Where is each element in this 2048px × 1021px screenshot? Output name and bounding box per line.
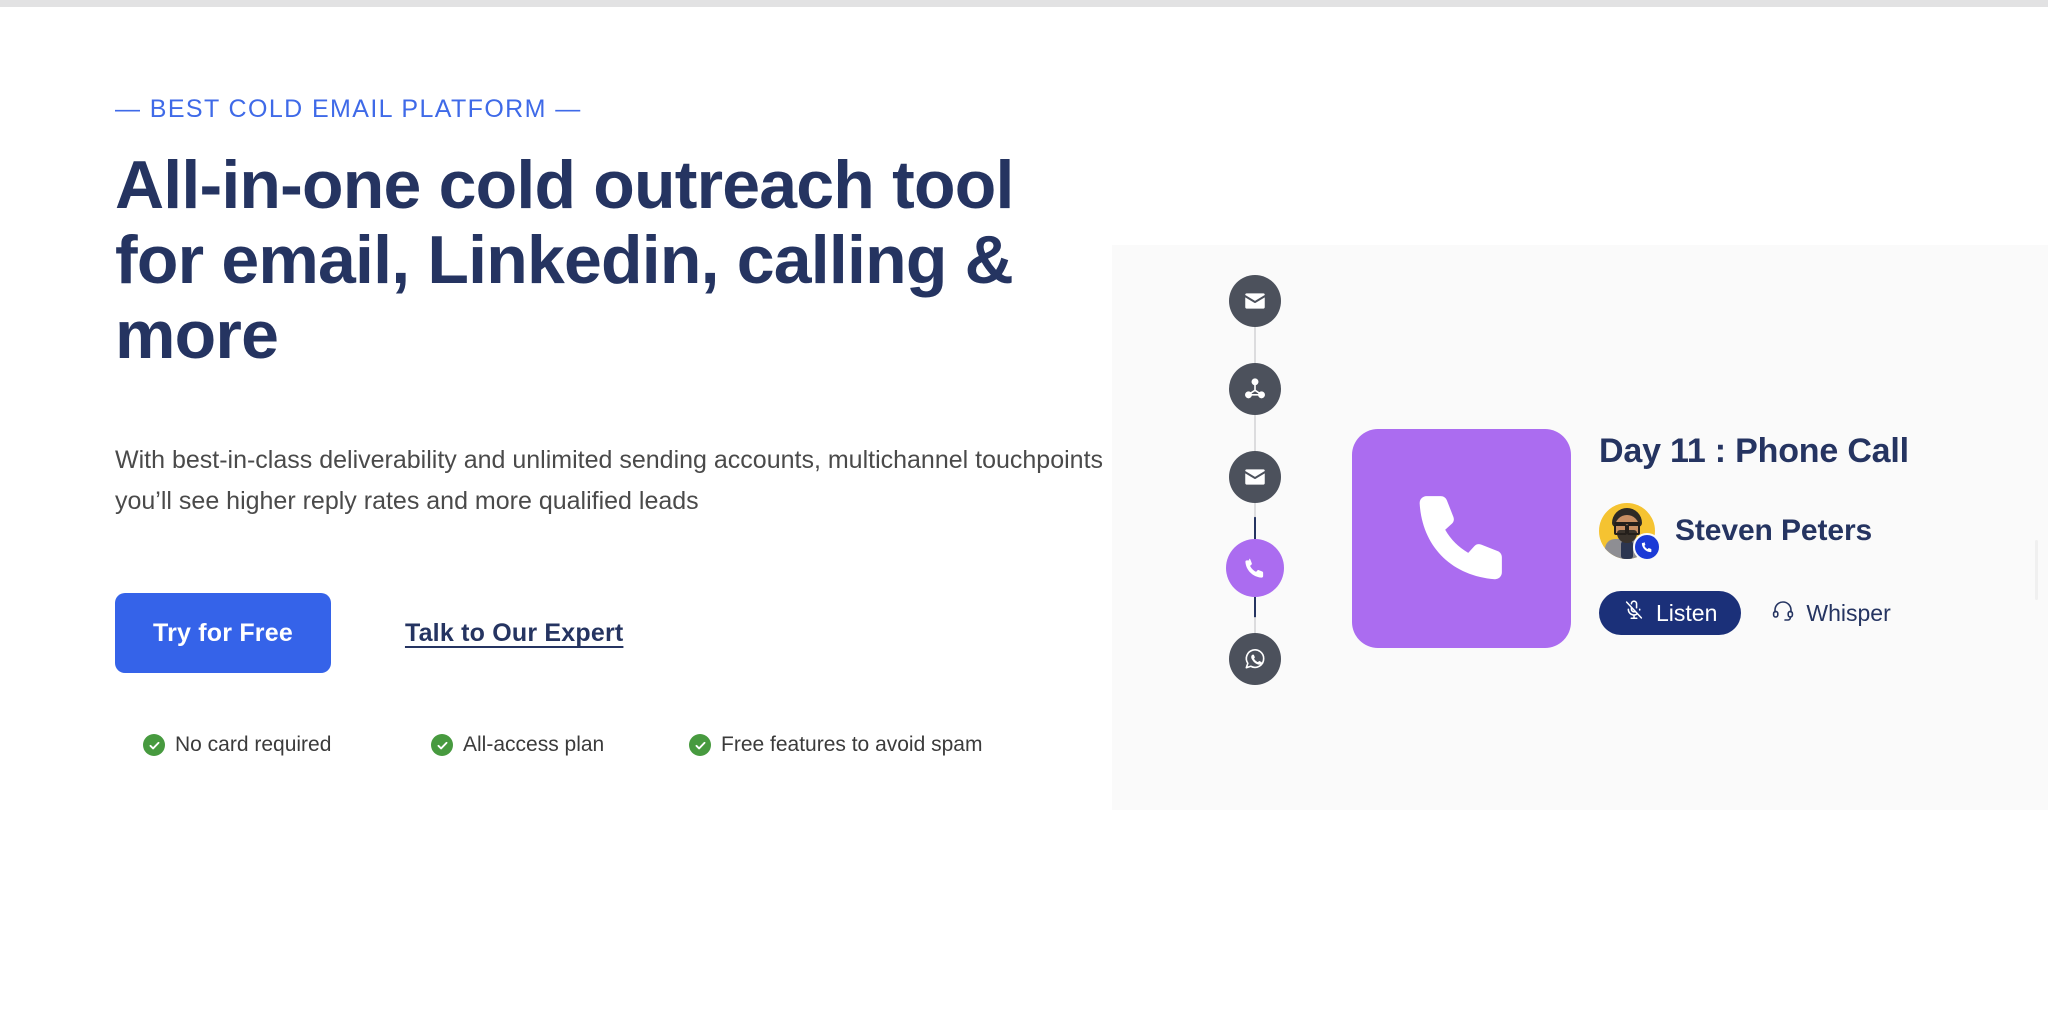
email-icon xyxy=(1242,464,1268,490)
call-info: Day 11 : Phone Call xyxy=(1599,429,1909,635)
call-title: Day 11 : Phone Call xyxy=(1599,432,1909,471)
rail-node-share[interactable] xyxy=(1229,363,1281,415)
rail-node-email-1[interactable] xyxy=(1229,275,1281,327)
hero-subtext: With best-in-class deliverability and un… xyxy=(115,440,1115,521)
feature-item: No card required xyxy=(143,733,431,757)
check-circle-icon xyxy=(431,734,453,756)
page-title: All-in-one cold outreach tool for email,… xyxy=(115,148,1075,372)
avatar-wrap xyxy=(1599,503,1655,559)
share-network-icon xyxy=(1242,376,1268,402)
try-for-free-button[interactable]: Try for Free xyxy=(115,593,331,673)
call-actions: Listen Whisper xyxy=(1599,591,1909,635)
feature-label: All-access plan xyxy=(463,733,604,757)
mic-muted-icon xyxy=(1623,599,1645,627)
listen-label: Listen xyxy=(1656,600,1717,627)
contact-row: Steven Peters xyxy=(1599,503,1909,559)
rail-node-whatsapp[interactable] xyxy=(1229,633,1281,685)
check-circle-icon xyxy=(689,734,711,756)
rail-connector-2 xyxy=(1254,415,1256,451)
whisper-label: Whisper xyxy=(1806,600,1890,627)
talk-to-expert-link[interactable]: Talk to Our Expert xyxy=(405,619,623,648)
whatsapp-icon xyxy=(1242,646,1268,672)
hero-eyebrow: — BEST COLD EMAIL PLATFORM — xyxy=(115,95,1115,124)
feature-label: Free features to avoid spam xyxy=(721,733,982,757)
feature-item: Free features to avoid spam xyxy=(689,733,982,757)
headset-icon xyxy=(1771,598,1795,628)
check-circle-icon xyxy=(143,734,165,756)
top-strip xyxy=(0,0,2048,7)
rail-connector-3 xyxy=(1254,503,1256,539)
hero-content: — BEST COLD EMAIL PLATFORM — All-in-one … xyxy=(115,95,1115,757)
rail-connector-4 xyxy=(1254,597,1256,633)
hero-page: Day 11 : Phone Call xyxy=(0,0,2048,1021)
rail-node-email-2[interactable] xyxy=(1229,451,1281,503)
avatar-glasses xyxy=(1614,522,1640,529)
call-tile xyxy=(1352,429,1571,648)
avatar-shirt xyxy=(1621,541,1633,559)
call-card: Day 11 : Phone Call xyxy=(1352,429,1909,648)
phone-badge-icon xyxy=(1633,533,1661,561)
listen-button[interactable]: Listen xyxy=(1599,591,1741,635)
feature-list: No card required All-access plan Free fe… xyxy=(143,733,1115,757)
panel-right-edge xyxy=(2035,540,2038,600)
contact-name: Steven Peters xyxy=(1675,514,1872,548)
feature-item: All-access plan xyxy=(431,733,689,757)
rail-connector-1 xyxy=(1254,327,1256,363)
email-icon xyxy=(1242,288,1268,314)
sequence-rail xyxy=(1215,275,1295,685)
phone-icon xyxy=(1242,555,1268,581)
whisper-button[interactable]: Whisper xyxy=(1771,598,1890,628)
feature-label: No card required xyxy=(175,733,331,757)
cta-row: Try for Free Talk to Our Expert xyxy=(115,593,1115,673)
phone-handset-icon xyxy=(1410,484,1514,593)
rail-node-phone-active[interactable] xyxy=(1226,539,1284,597)
